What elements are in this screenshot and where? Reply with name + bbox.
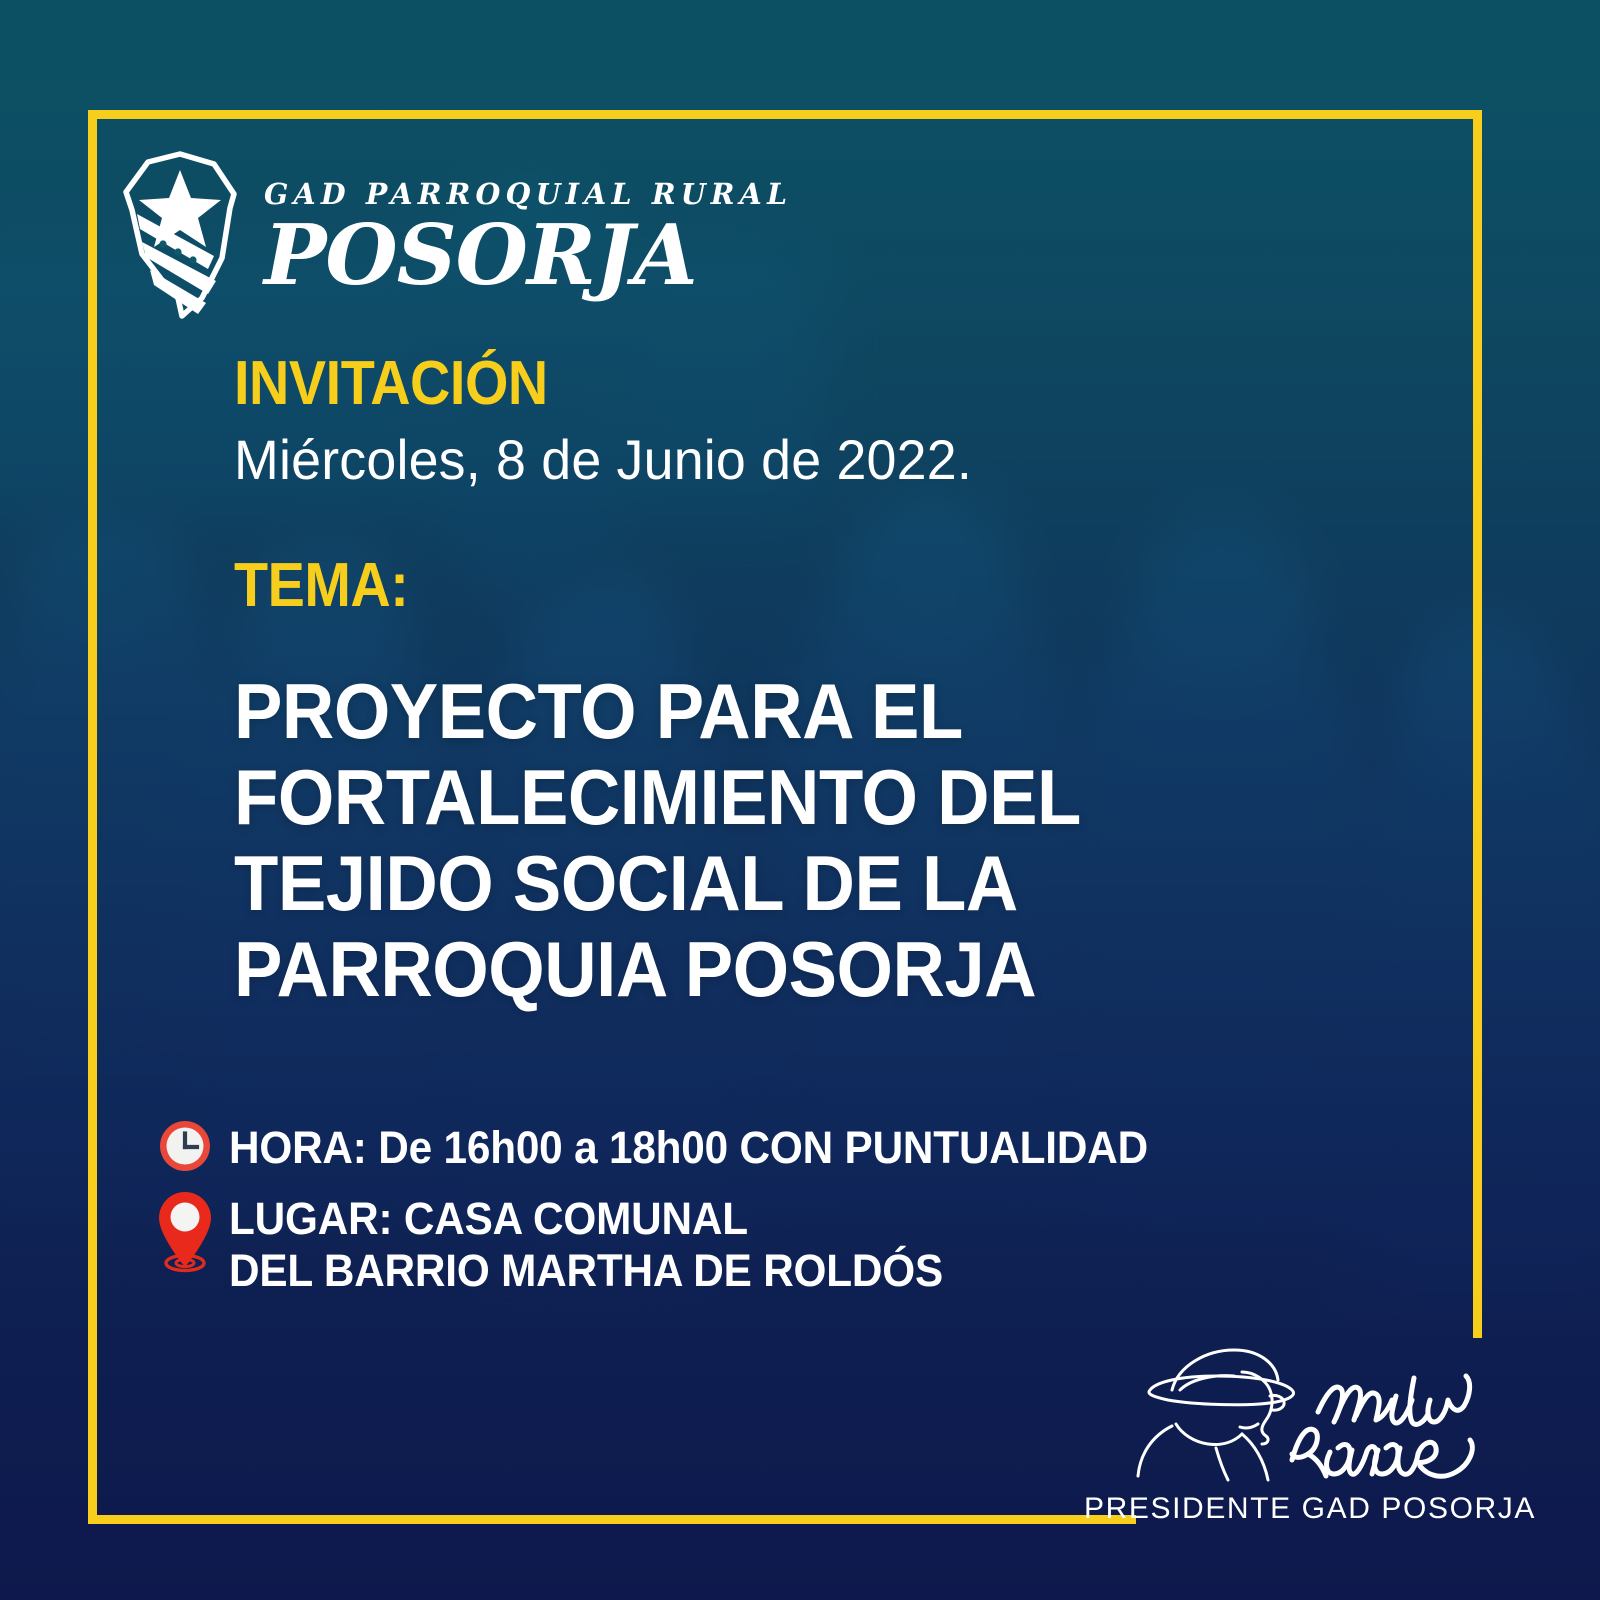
- frame-bottom-edge: [88, 1515, 1136, 1524]
- detail-text-lugar: LUGAR: CASA COMUNAL DEL BARRIO MARTHA DE…: [229, 1189, 943, 1298]
- frame-top-edge: [88, 110, 1482, 119]
- logo-name: POSORJA: [264, 215, 792, 296]
- invitation-date: Miércoles, 8 de Junio de 2022.: [234, 427, 1386, 493]
- detail-row-hora: HORA: De 16h00 a 18h00 CON PUNTUALIDAD: [155, 1118, 1455, 1175]
- detail-text-hora: HORA: De 16h00 a 18h00 CON PUNTUALIDAD: [229, 1118, 1148, 1175]
- signature-name-script: [1292, 1376, 1472, 1476]
- frame-left-edge: [88, 110, 97, 1524]
- invitation-heading: INVITACIÓN: [234, 352, 1314, 415]
- topic-title-line: PROYECTO PARA EL: [234, 669, 1350, 755]
- map-pin-icon: [157, 1189, 213, 1275]
- logo-kicker: GAD PARROQUIAL RURAL: [264, 180, 792, 209]
- topic-title: PROYECTO PARA EL FORTALECIMIENTO DEL TEJ…: [234, 669, 1350, 1012]
- topic-title-line: PARROQUIA POSORJA: [234, 927, 1350, 1013]
- frame-right-edge: [1473, 110, 1482, 1338]
- poster-content: INVITACIÓN Miércoles, 8 de Junio de 2022…: [234, 352, 1434, 1013]
- detail-row-lugar: LUGAR: CASA COMUNAL DEL BARRIO MARTHA DE…: [155, 1189, 1455, 1298]
- detail-line: LUGAR: CASA COMUNAL: [229, 1193, 943, 1246]
- invitation-poster: GAD PARROQUIAL RURAL POSORJA INVITACIÓN …: [0, 0, 1600, 1600]
- gad-posorja-logo: GAD PARROQUIAL RURAL POSORJA: [118, 148, 792, 320]
- clock-icon-wrap: [155, 1118, 215, 1174]
- topic-label: TEMA:: [234, 555, 1314, 617]
- event-details: HORA: De 16h00 a 18h00 CON PUNTUALIDAD L…: [155, 1118, 1455, 1298]
- detail-line: DEL BARRIO MARTHA DE ROLDÓS: [229, 1245, 943, 1298]
- shield-star-stripes-icon: [118, 148, 242, 320]
- clock-icon: [157, 1118, 213, 1174]
- detail-line: HORA: De 16h00 a 18h00 CON PUNTUALIDAD: [229, 1122, 1148, 1175]
- topic-title-line: TEJIDO SOCIAL DE LA: [234, 841, 1350, 927]
- signature-role: PRESIDENTE GAD POSORJA: [1084, 1492, 1536, 1526]
- map-pin-icon-wrap: [155, 1189, 215, 1275]
- signature-block: PRESIDENTE GAD POSORJA: [1110, 1338, 1510, 1526]
- man-with-hat-portrait-icon: [1138, 1350, 1294, 1480]
- topic-title-line: FORTALECIMIENTO DEL: [234, 755, 1350, 841]
- signature-artwork: [1120, 1338, 1500, 1488]
